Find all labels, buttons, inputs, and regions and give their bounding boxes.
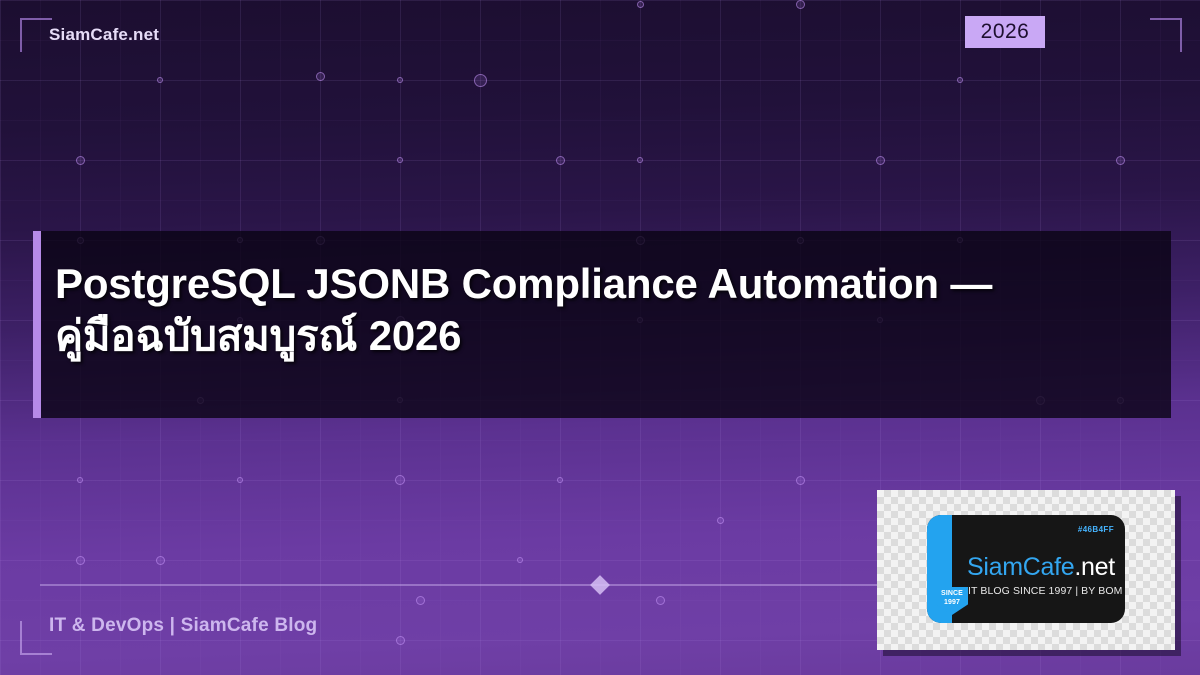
- corner-bracket-top-right: [1150, 18, 1182, 52]
- grid-node-dot: [1116, 156, 1125, 165]
- corner-bracket-bottom-left: [20, 621, 52, 655]
- title-accent-bar: [33, 231, 41, 418]
- grid-node-dot: [157, 77, 163, 83]
- grid-node-dot: [397, 77, 403, 83]
- logo-panel: SINCE 1997 #46B4FF SiamCafe.net IT BLOG …: [927, 515, 1125, 623]
- grid-node-dot: [77, 477, 83, 483]
- grid-node-dot: [395, 475, 405, 485]
- grid-node-dot: [237, 477, 243, 483]
- logo-brand-suffix: .net: [1074, 553, 1115, 581]
- grid-node-dot: [474, 74, 487, 87]
- grid-node-dot: [957, 77, 963, 83]
- since-badge-line2: 1997: [944, 598, 960, 607]
- grid-node-dot: [556, 156, 565, 165]
- grid-node-dot: [637, 157, 643, 163]
- grid-node-dot: [557, 477, 563, 483]
- grid-node-dot: [416, 596, 425, 605]
- grid-node-dot: [156, 556, 165, 565]
- grid-node-dot: [76, 156, 85, 165]
- grid-node-dot: [717, 517, 724, 524]
- logo-brand-name: SiamCafe.net: [967, 553, 1115, 582]
- year-badge: 2026: [965, 16, 1045, 48]
- grid-node-dot: [796, 0, 805, 9]
- grid-node-dot: [796, 476, 805, 485]
- grid-node-dot: [316, 72, 325, 81]
- hex-code-label: #46B4FF: [1078, 525, 1114, 534]
- logo-card: SINCE 1997 #46B4FF SiamCafe.net IT BLOG …: [877, 490, 1175, 650]
- grid-node-dot: [656, 596, 665, 605]
- grid-node-dot: [637, 1, 644, 8]
- site-name-label: SiamCafe.net: [49, 25, 159, 45]
- grid-node-dot: [517, 557, 523, 563]
- logo-brand-primary: SiamCafe: [967, 553, 1074, 581]
- page-title: PostgreSQL JSONB Compliance Automation —…: [55, 258, 1155, 362]
- grid-node-dot: [876, 156, 885, 165]
- corner-bracket-top-left: [20, 18, 52, 52]
- banner-canvas: SiamCafe.net 2026 PostgreSQL JSONB Compl…: [0, 0, 1200, 675]
- since-badge-line1: SINCE: [941, 589, 963, 598]
- footer-label: IT & DevOps | SiamCafe Blog: [49, 615, 317, 637]
- logo-tagline: IT BLOG SINCE 1997 | BY BOM: [968, 585, 1122, 597]
- grid-node-dot: [397, 157, 403, 163]
- grid-node-dot: [396, 636, 405, 645]
- grid-node-dot: [76, 556, 85, 565]
